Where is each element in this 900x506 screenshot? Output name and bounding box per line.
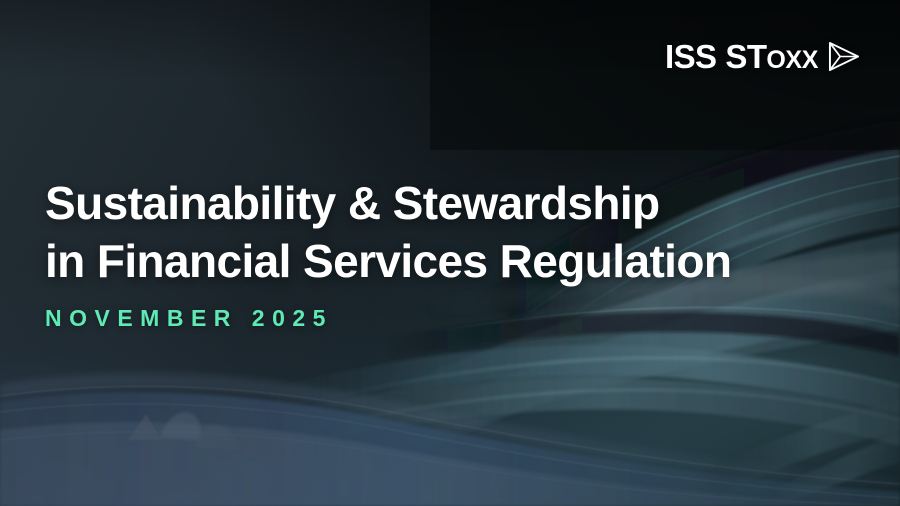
- brand-wordmark-oxx: OXX: [766, 48, 818, 73]
- page-title-line-2: in Financial Services Regulation: [45, 232, 731, 290]
- brand-wordmark-s: S: [725, 40, 746, 73]
- subtitle-date: NOVEMBER 2025: [45, 307, 731, 330]
- title-text-block: Sustainability & Stewardship in Financia…: [45, 174, 731, 330]
- brand-wordmark-t: T: [747, 40, 767, 73]
- brand-logo[interactable]: ISS S T OXX: [665, 40, 860, 73]
- brand-wordmark-iss: ISS: [665, 40, 716, 73]
- brand-wordmark: ISS S T OXX: [665, 40, 818, 73]
- page-title-line-1: Sustainability & Stewardship: [45, 174, 731, 232]
- title-slide: ISS S T OXX Sustainability & Stewardship…: [0, 0, 900, 506]
- play-triangle-outline-icon: [827, 41, 860, 72]
